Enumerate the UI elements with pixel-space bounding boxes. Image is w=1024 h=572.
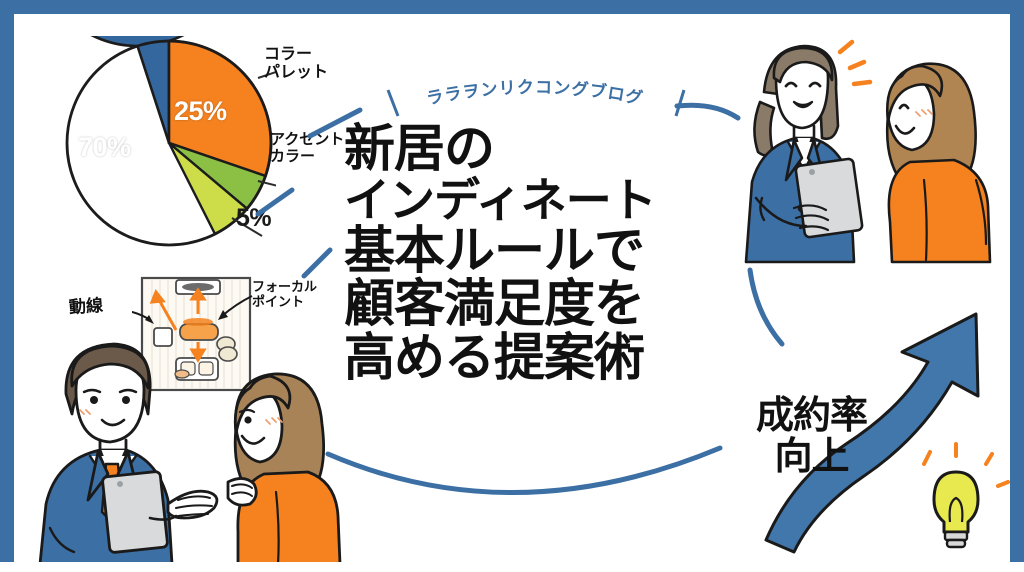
tablet-device-agent bbox=[102, 471, 168, 553]
frame-border-bottom bbox=[0, 562, 1024, 572]
pie-label-accent-color: アクセント カラー bbox=[270, 132, 344, 166]
lightbulb-icon bbox=[924, 444, 1008, 547]
arc-bottom-sweep bbox=[328, 448, 720, 493]
page-title: 新居の インディネート 基本ルールで 顧客満足度を 高める提案術 bbox=[344, 122, 724, 384]
frame-border-right bbox=[1010, 0, 1024, 572]
woman-client-bottom bbox=[228, 374, 340, 562]
thumbnail-canvas: 70% 25% 5% コラー パレット アクセント カラー bbox=[0, 0, 1024, 572]
pie-value-accent: 5% bbox=[236, 204, 271, 233]
result-callout: 成約率 向上 bbox=[756, 396, 867, 477]
result-callout-line2: 向上 bbox=[756, 437, 867, 478]
pie-label-color-palette-line1: コラー bbox=[264, 46, 328, 64]
headline-line-2: インディネート bbox=[344, 176, 724, 224]
man-agent bbox=[40, 344, 217, 562]
pie-label-accent-line1: アクセント bbox=[270, 132, 344, 149]
floorplan-label-focal-line1: フォーカル bbox=[252, 280, 317, 295]
floorplan-label-flow: 動線 bbox=[68, 296, 103, 317]
frame-border-top bbox=[0, 0, 1024, 14]
illustration-consultant-and-client-women bbox=[742, 30, 1010, 300]
result-callout-line1: 成約率 bbox=[756, 396, 867, 437]
eyebrow-slash-right bbox=[676, 90, 684, 116]
pie-value-palette: 25% bbox=[174, 96, 227, 127]
eyebrow-text: ララヲンリクコングブログ bbox=[425, 78, 645, 109]
frame-border-left bbox=[0, 0, 14, 572]
eyebrow-ribbon: ララヲンリクコングブログ bbox=[380, 76, 690, 118]
pie-label-color-palette: コラー パレット bbox=[264, 46, 328, 82]
floorplan-label-focal: フォーカル ポイント bbox=[252, 280, 317, 310]
floorplan-label-focal-line2: ポイント bbox=[252, 295, 317, 310]
headline-line-1: 新居の bbox=[344, 122, 724, 176]
headline-line-3: 基本ルールで bbox=[344, 224, 724, 278]
pie-label-accent-line2: カラー bbox=[270, 149, 344, 166]
pie-value-base: 70% bbox=[78, 132, 131, 163]
headline-line-4: 顧客満足度を bbox=[344, 277, 724, 331]
content-area: 70% 25% 5% コラー パレット アクセント カラー bbox=[14, 14, 1010, 562]
svg-text:ララヲンリクコングブログ: ララヲンリクコングブログ bbox=[425, 78, 645, 109]
woman-client bbox=[887, 64, 990, 262]
sparkle-marks bbox=[840, 42, 870, 84]
arc-lower-left bbox=[304, 250, 330, 276]
headline-line-5: 高める提案術 bbox=[344, 331, 724, 385]
woman-consultant bbox=[746, 46, 863, 262]
pie-label-color-palette-line2: パレット bbox=[264, 64, 328, 82]
eyebrow-slash-left bbox=[388, 90, 398, 116]
illustration-agent-and-client bbox=[22, 332, 342, 562]
